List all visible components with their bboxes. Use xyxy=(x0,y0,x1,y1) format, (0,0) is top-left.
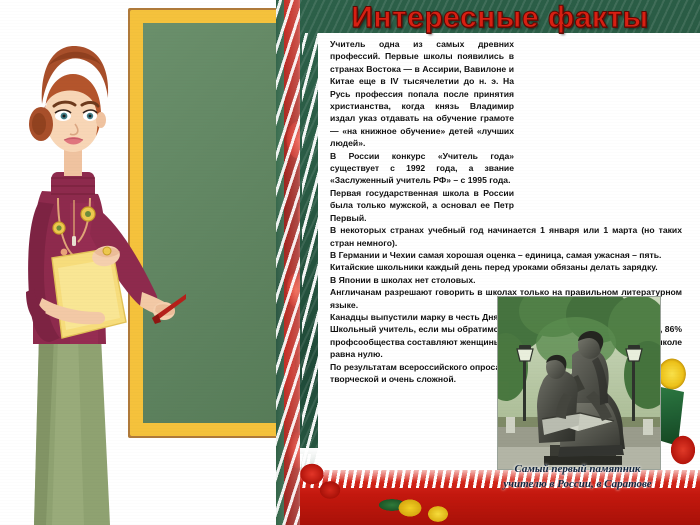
photo-caption-line1: Самый первый памятник xyxy=(470,462,685,477)
fact-paragraph: В Германии и Чехии самая хорошая оценка … xyxy=(330,249,682,261)
fact-paragraph: В некоторых странах учебный год начинает… xyxy=(330,224,682,249)
left-illustration-panel xyxy=(0,0,300,525)
fact-paragraph: Китайские школьники каждый день перед ур… xyxy=(330,261,682,273)
monument-photo-graphic xyxy=(498,297,660,469)
monument-photo xyxy=(497,296,661,470)
splash-yellow-flowers xyxy=(388,492,462,525)
slide-root: Интересные факты Учитель одна из самых д… xyxy=(0,0,700,525)
photo-caption: Самый первый памятник учителю в России, … xyxy=(470,462,685,504)
photo-caption-line2: учителю в России, в Саратове xyxy=(470,477,685,492)
teacher-illustration xyxy=(6,6,186,525)
photo-text-wrap-spacer xyxy=(522,42,682,218)
fact-paragraph: В Японии в школах нет столовых. xyxy=(330,274,682,286)
splash-left-red-flower xyxy=(300,456,348,525)
